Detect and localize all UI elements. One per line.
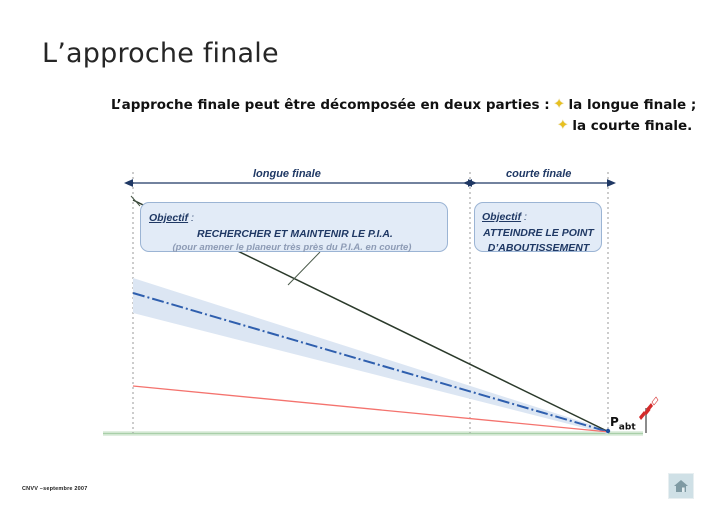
callout-heading-colon: :	[188, 212, 194, 224]
home-icon	[673, 479, 689, 494]
callout-objectif-longue-finale: Objectif : RECHERCHER ET MAINTENIR LE P.…	[140, 202, 448, 252]
home-button[interactable]	[668, 473, 694, 499]
aiming-point-label-subscript: abt	[619, 422, 636, 432]
callout-heading-colon: :	[521, 211, 527, 223]
approach-diagram: longue finale courte finale Objectif : R…	[0, 0, 720, 507]
callout-heading: Objectif	[149, 212, 188, 224]
callout-objectif-courte-finale: Objectif : ATTEINDRE LE POINT D’ABOUTISS…	[474, 202, 602, 252]
callout-main-line-2: D’ABOUTISSEMENT	[482, 241, 595, 255]
aiming-point-label-main: P	[610, 415, 619, 429]
callout-sub-text: (pour amener le planeur très près du P.I…	[149, 242, 439, 253]
windsock-icon	[639, 397, 658, 433]
span-label-longue-finale: longue finale	[253, 168, 321, 180]
callout-main-text: RECHERCHER ET MAINTENIR LE P.I.A.	[149, 228, 439, 240]
callout-heading: Objectif	[482, 211, 521, 223]
span-label-courte-finale: courte finale	[506, 168, 571, 180]
callout-main-line-1: ATTEINDRE LE POINT	[482, 226, 595, 240]
aiming-point-label: Pabt	[610, 415, 636, 432]
callout-leader-bottom	[288, 252, 320, 285]
callout-leader-top	[131, 196, 140, 206]
footer-credit: CNVV –septembre 2007	[22, 486, 87, 492]
